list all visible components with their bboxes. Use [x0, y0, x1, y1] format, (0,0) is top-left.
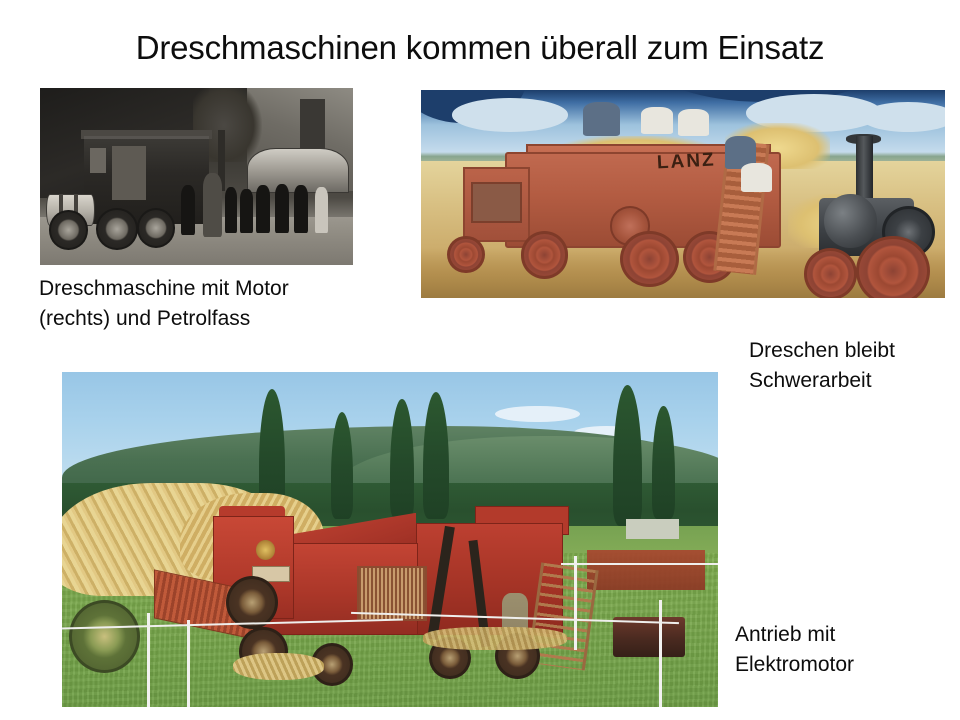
bw-wheel [49, 210, 87, 249]
painting-worker [678, 109, 709, 136]
bw-person [181, 185, 195, 235]
photo-fence-post [659, 600, 662, 707]
photo-wagon-wheel [69, 600, 141, 673]
bw-machine-slot [90, 148, 106, 173]
caption-historic-photo: Dreschmaschine mit Motor (rechts) und Pe… [39, 274, 369, 334]
page-title: Dreschmaschinen kommen überall zum Einsa… [0, 26, 960, 70]
photo-machine-badge [256, 540, 276, 560]
bw-wheel [137, 208, 175, 247]
painting-tractor-wheel [804, 248, 857, 298]
painting-tractor-boiler [824, 194, 876, 248]
painting-worker [583, 102, 620, 135]
bw-wheel [96, 208, 138, 249]
painting-wheel [521, 231, 569, 279]
bw-machine-panel [112, 146, 146, 199]
bw-person [275, 184, 289, 234]
painting-cloud [452, 98, 567, 131]
painting-canvas: LANZ [421, 90, 945, 298]
painting-chimney [856, 136, 873, 205]
photo-distant-machine [587, 550, 705, 590]
bw-person [203, 173, 222, 237]
bw-person [256, 185, 270, 233]
bw-photo-canvas [40, 88, 353, 265]
bw-person [225, 187, 238, 233]
photo-ground-straw [423, 627, 567, 650]
bw-person [294, 185, 308, 233]
bw-person [315, 187, 328, 233]
historic-threshing-machine-photo [40, 88, 353, 265]
painting-wheel [620, 231, 678, 287]
color-photo-canvas [62, 372, 718, 707]
painting-wheel [447, 236, 484, 273]
photo-fence-post [147, 613, 150, 707]
painting-worker [641, 107, 672, 134]
photo-ground-straw [233, 653, 325, 680]
painting-brand-label: LANZ [656, 150, 716, 175]
caption-color-photo: Antrieb mit Elektromotor [735, 620, 950, 680]
photo-distant-building [626, 519, 678, 539]
photo-cloud [495, 406, 580, 423]
photo-fence-post [574, 556, 577, 650]
painting-tractor-wheel [856, 236, 930, 298]
modern-threshing-demo-photo [62, 372, 718, 707]
bw-person [240, 189, 253, 233]
caption-painting: Dreschen bleibt Schwerarbeit [749, 336, 954, 396]
painting-machine-window [471, 182, 522, 223]
photo-fence-post [187, 620, 190, 707]
painting-worker [741, 163, 772, 192]
photo-fence-line [561, 563, 718, 565]
painting-cloud [861, 102, 945, 131]
lanz-threshing-painting: LANZ [421, 90, 945, 298]
